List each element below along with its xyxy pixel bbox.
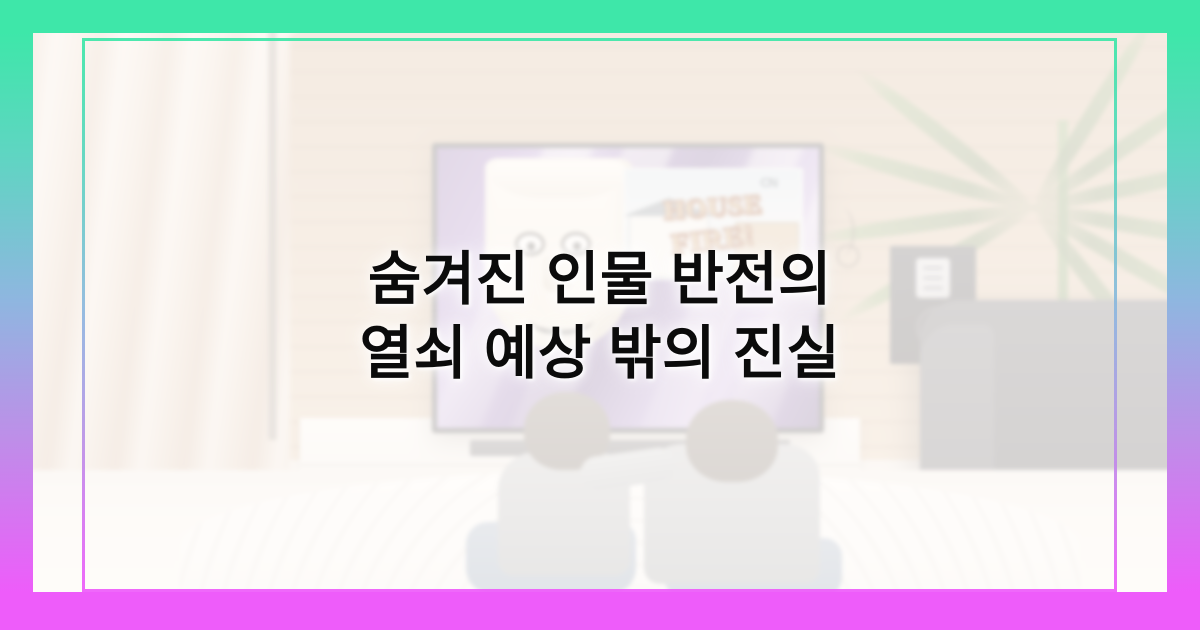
floor-lamp-pole — [268, 10, 277, 440]
thumbnail-canvas: CN HOUSE FIRE! — [0, 0, 1200, 630]
cartoon-nose — [543, 256, 571, 292]
child-head — [686, 400, 778, 482]
speaker-tweeter-plate — [916, 258, 950, 298]
cartoon-hair — [491, 162, 627, 198]
tv-inset-card: CN HOUSE FIRE! — [623, 168, 803, 280]
cartoon-pupil — [527, 242, 535, 251]
cartoon-eye-right — [561, 232, 591, 256]
cartoon-pupil — [573, 242, 581, 251]
child-right — [620, 398, 850, 608]
tv-screen: CN HOUSE FIRE! — [437, 148, 819, 428]
television: CN HOUSE FIRE! — [432, 143, 824, 433]
cartoon-character — [485, 158, 633, 348]
cartoon-eye-left — [515, 232, 545, 256]
background-photo: CN HOUSE FIRE! — [0, 0, 1200, 630]
cartoon-mouth — [529, 304, 593, 335]
hanging-cord — [830, 208, 855, 256]
